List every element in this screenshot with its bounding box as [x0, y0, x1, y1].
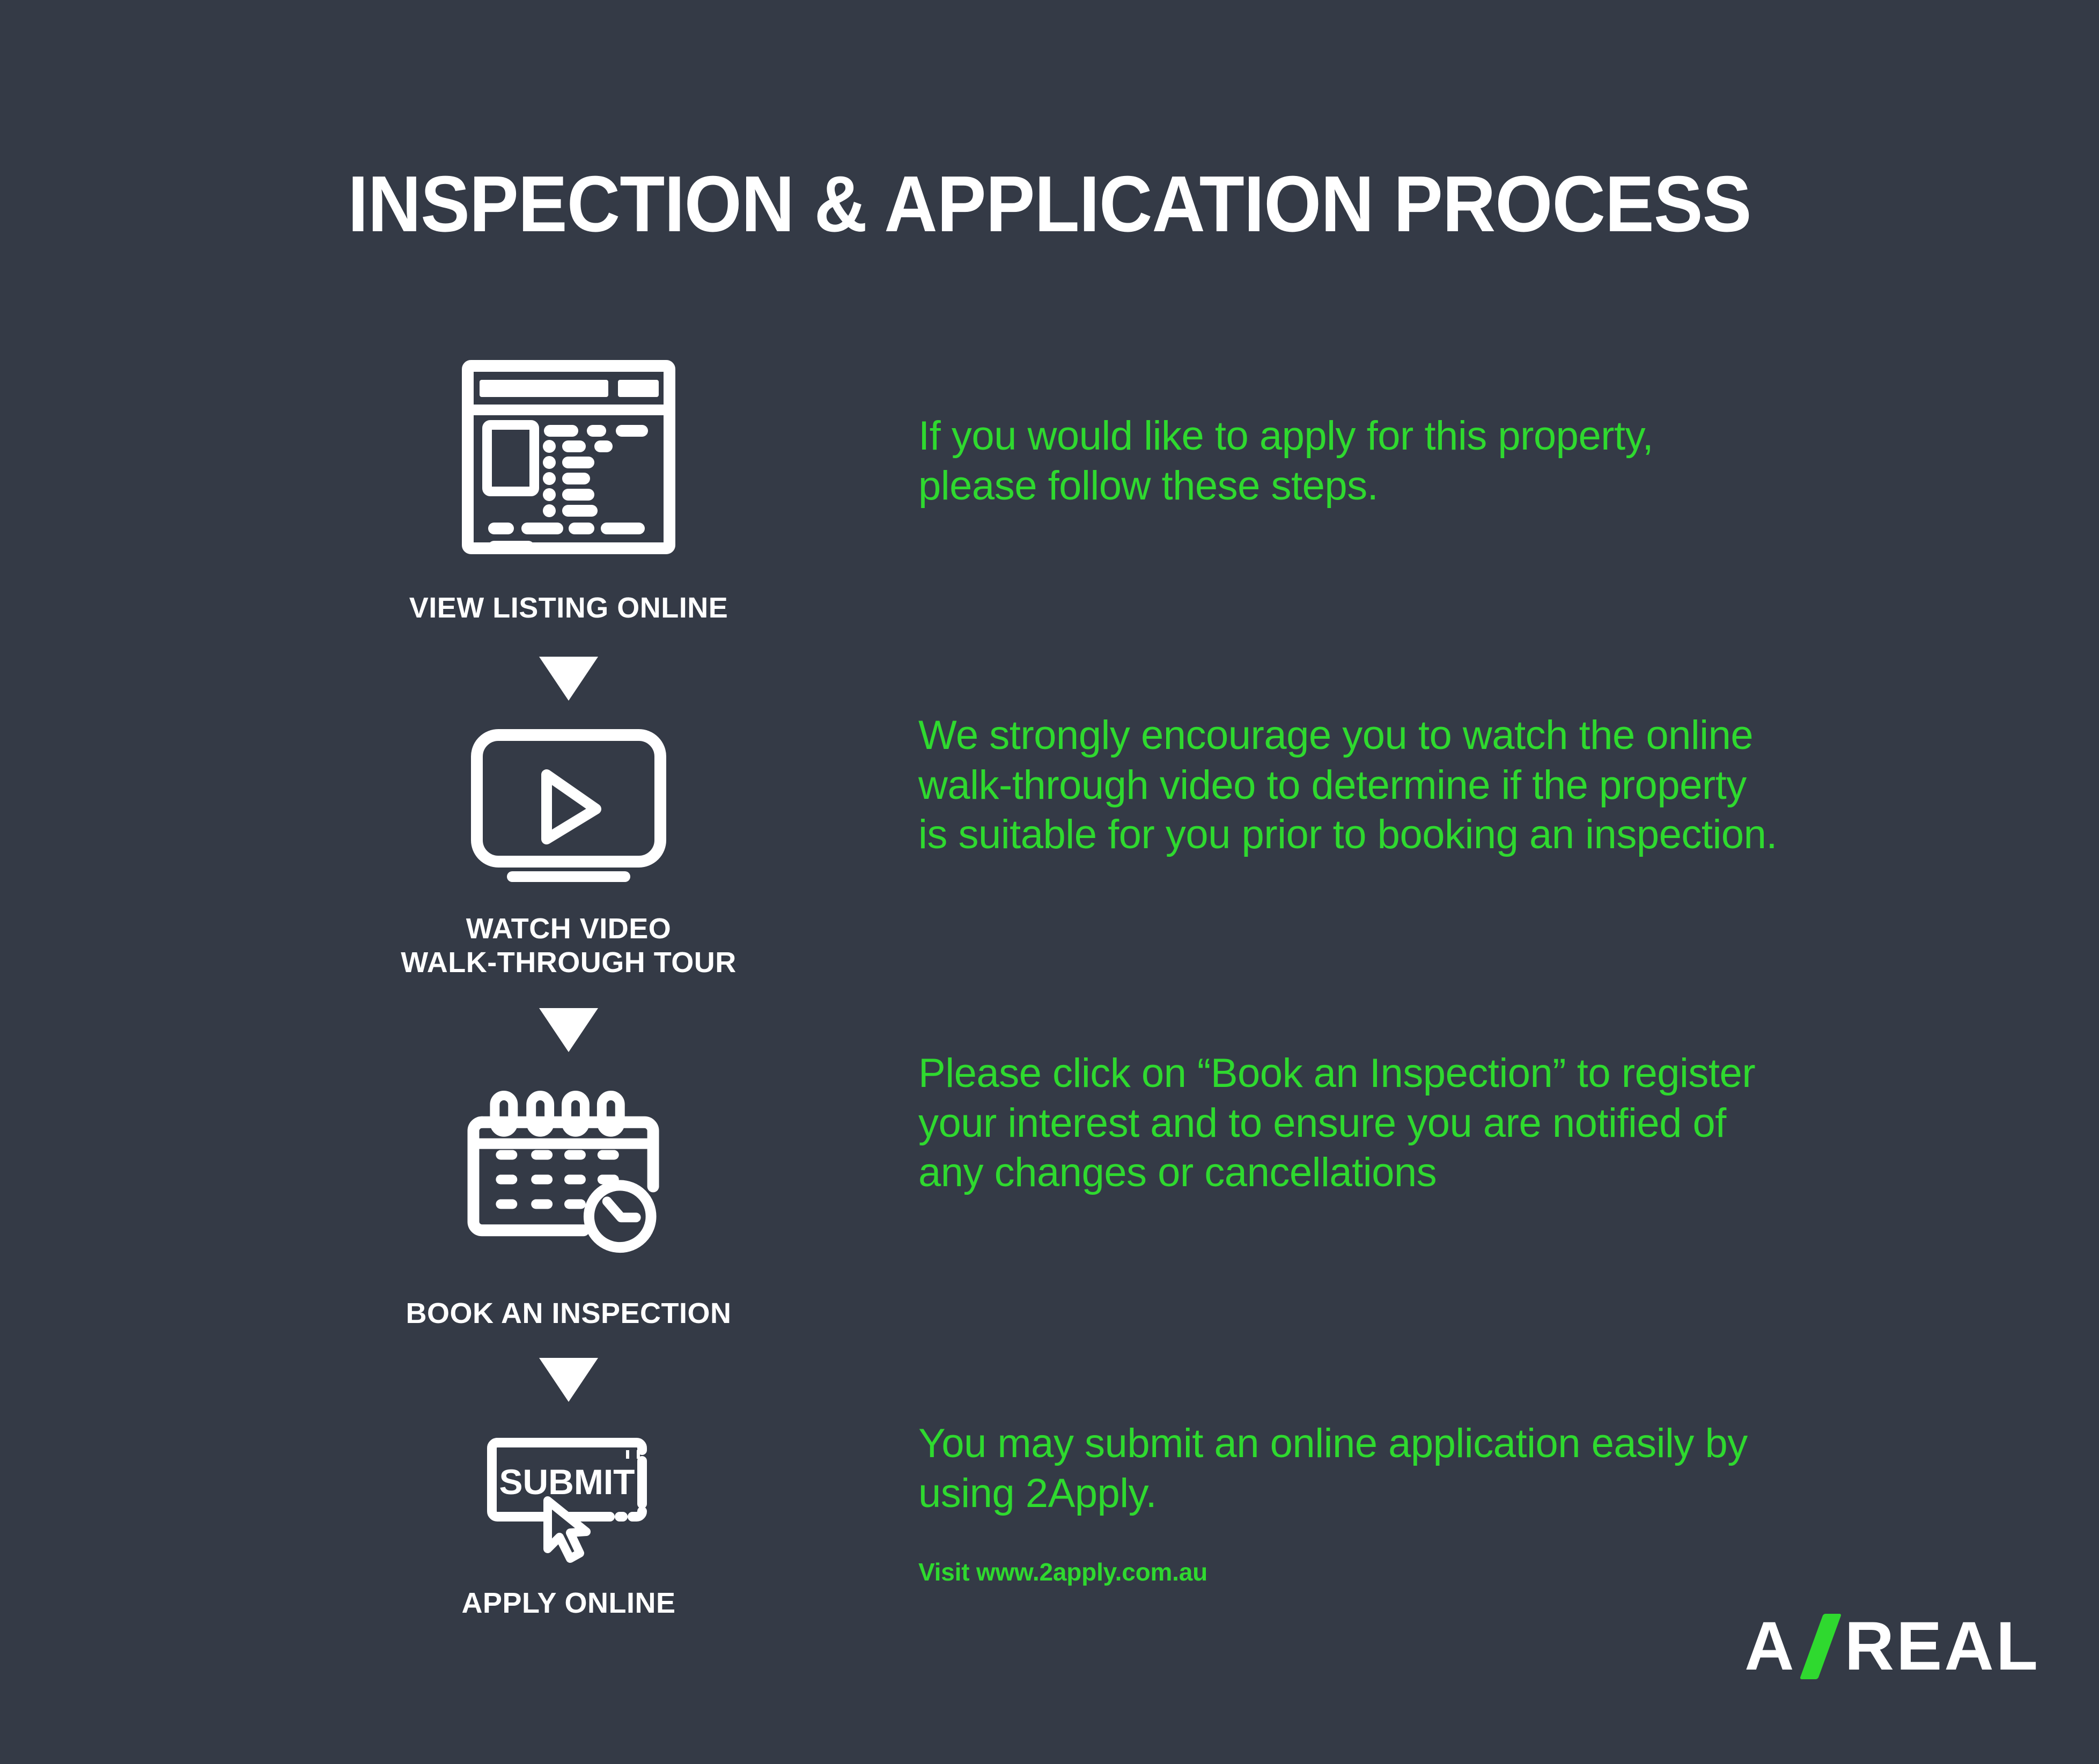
page-title: INSPECTION & APPLICATION PROCESS	[73, 159, 2026, 250]
infographic-page: INSPECTION & APPLICATION PROCESS	[0, 0, 2099, 1764]
step-2-copy: We strongly encourage you to watch the o…	[918, 711, 1777, 860]
step-1-copy: If you would like to apply for this prop…	[918, 411, 1653, 511]
submit-button-cursor-icon: SUBMIT	[469, 1428, 668, 1567]
step-1-label: VIEW LISTING ONLINE	[409, 591, 728, 626]
areal-logo: A REAL	[1744, 1607, 2040, 1686]
process-flow-column: VIEW LISTING ONLINE WATCH VIDEO WALK-THR…	[381, 354, 756, 1621]
step-1: VIEW LISTING ONLINE	[409, 354, 728, 626]
logo-letter-a: A	[1744, 1607, 1796, 1686]
flow-arrow-3-icon	[539, 1358, 598, 1402]
browser-listing-icon	[461, 354, 676, 569]
logo-word-real: REAL	[1845, 1607, 2040, 1686]
step-3-copy: Please click on “Book an Inspection” to …	[918, 1049, 1755, 1198]
step-3: BOOK AN INSPECTION	[406, 1078, 731, 1331]
flow-arrow-2-icon	[539, 1008, 598, 1052]
visit-link-text[interactable]: Visit www.2apply.com.au	[918, 1557, 1207, 1586]
step-4-label: APPLY ONLINE	[461, 1586, 675, 1621]
logo-slash-icon	[1799, 1614, 1841, 1679]
flow-arrow-1-icon	[539, 657, 598, 701]
step-2-label: WATCH VIDEO WALK-THROUGH TOUR	[401, 912, 736, 980]
calendar-clock-icon	[467, 1078, 671, 1276]
step-4: SUBMIT APPLY ONLINE	[461, 1428, 675, 1621]
submit-icon-text: SUBMIT	[499, 1462, 635, 1502]
video-play-screen-icon	[469, 727, 668, 888]
step-2: WATCH VIDEO WALK-THROUGH TOUR	[401, 727, 736, 980]
step-3-label: BOOK AN INSPECTION	[406, 1297, 731, 1331]
step-4-copy: You may submit an online application eas…	[918, 1419, 1748, 1518]
